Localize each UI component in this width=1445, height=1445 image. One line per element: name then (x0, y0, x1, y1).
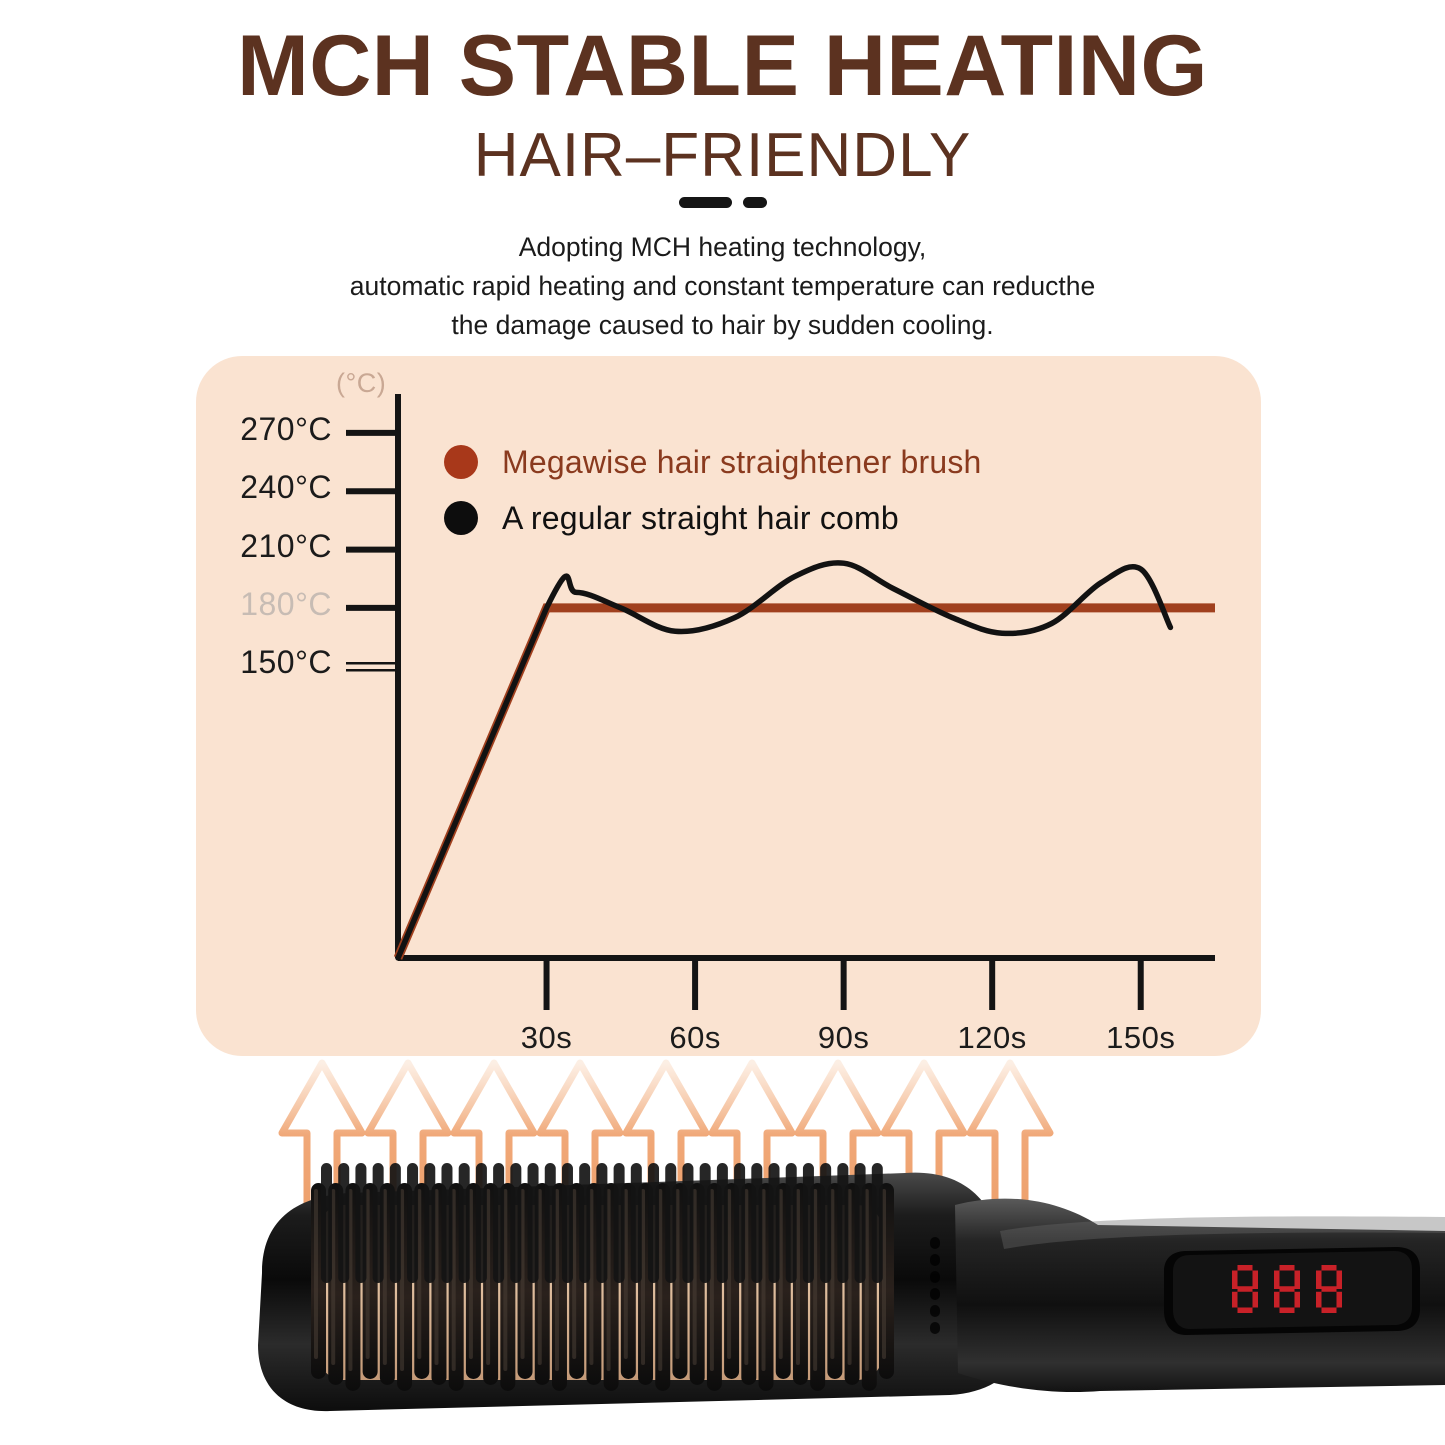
product-illustration (0, 1055, 1445, 1445)
brush-assembly (258, 1163, 1445, 1411)
description-line-2: automatic rapid heating and constant tem… (0, 267, 1445, 306)
divider-dash-short (743, 197, 767, 208)
chart-series-group (398, 563, 1215, 958)
description-text: Adopting MCH heating technology, automat… (0, 228, 1445, 345)
chart-axes (346, 394, 1215, 1010)
chart-plot-area (196, 356, 1261, 1056)
product-photo (0, 1055, 1445, 1445)
page-title: MCH STABLE HEATING (0, 16, 1445, 116)
description-line-3: the damage caused to hair by sudden cool… (0, 306, 1445, 345)
description-line-1: Adopting MCH heating technology, (0, 228, 1445, 267)
header: MCH STABLE HEATING HAIR–FRIENDLY (0, 0, 1445, 194)
divider (0, 197, 1445, 208)
page-subtitle: HAIR–FRIENDLY (0, 118, 1445, 194)
temperature-chart-panel: (°C) 150°C180°C210°C240°C270°C 30s60s90s… (196, 356, 1261, 1056)
divider-dash-long (679, 197, 732, 208)
